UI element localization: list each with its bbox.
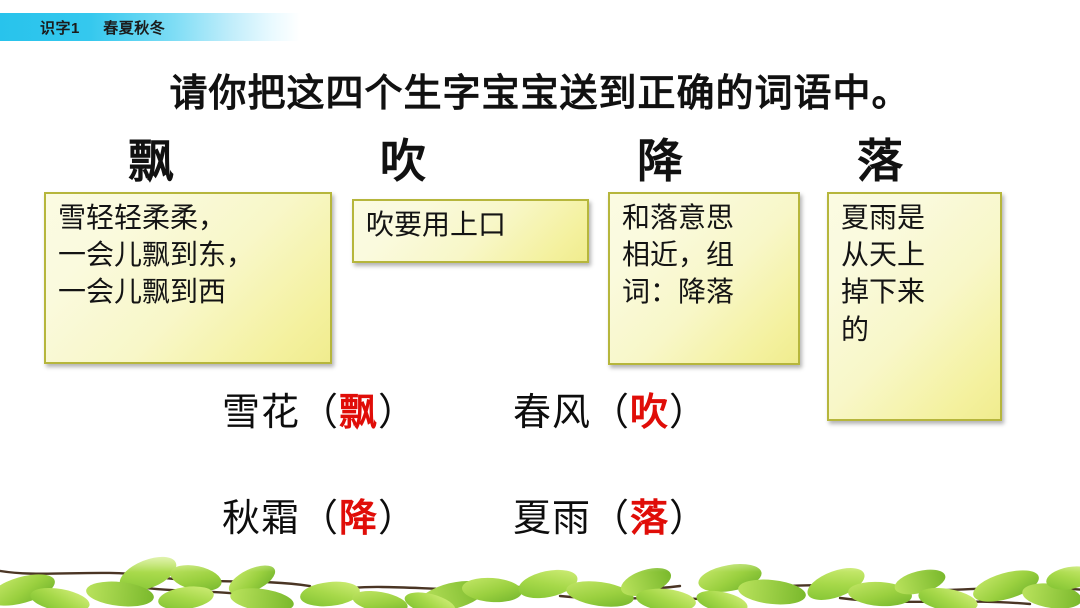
big-char-piao[interactable]: 飘: [128, 138, 174, 184]
answer-word: 雪花（: [222, 392, 339, 434]
leaf-border-icon: [0, 538, 1080, 608]
answer-close: ）: [669, 392, 708, 434]
answer-close: ）: [669, 498, 708, 540]
hint-card-luo: 夏雨是 从天上 掉下来 的: [827, 192, 1002, 421]
answer-qiushuang: 秋霜（降）: [222, 487, 417, 542]
hint-card-piao: 雪轻轻柔柔， 一会儿飘到东， 一会儿飘到西: [44, 192, 332, 364]
hint-line: 一会儿飘到西: [58, 274, 320, 311]
answer-close: ）: [378, 392, 417, 434]
answer-key[interactable]: 飘: [339, 392, 378, 434]
answer-word: 秋霜（: [222, 498, 339, 540]
hint-line: 吹要用上口: [366, 207, 577, 244]
answer-chunfeng: 春风（吹）: [513, 381, 708, 436]
hint-line: 和落意思: [622, 200, 788, 237]
answer-key[interactable]: 吹: [630, 392, 669, 434]
big-char-chui[interactable]: 吹: [380, 138, 426, 184]
answer-key[interactable]: 降: [339, 498, 378, 540]
hint-line: 从天上: [841, 237, 990, 274]
hint-line: 的: [841, 312, 990, 349]
leaf-border-decoration: [0, 538, 1080, 608]
answer-word: 春风（: [513, 392, 630, 434]
hint-card-jiang: 和落意思 相近，组 词：降落: [608, 192, 800, 365]
big-char-luo[interactable]: 落: [857, 138, 903, 184]
answer-key[interactable]: 落: [630, 498, 669, 540]
lesson-banner: 识字1 春夏秋冬: [0, 13, 300, 41]
hint-line: 掉下来: [841, 274, 990, 311]
hint-line: 相近，组: [622, 237, 788, 274]
hint-line: 雪轻轻柔柔，: [58, 200, 320, 237]
answer-word: 夏雨（: [513, 498, 630, 540]
hint-line: 词：降落: [622, 274, 788, 311]
hint-line: 夏雨是: [841, 200, 990, 237]
hint-card-chui: 吹要用上口: [352, 199, 589, 263]
lesson-title: 春夏秋冬: [103, 20, 165, 37]
lesson-code: 识字1: [40, 20, 80, 37]
big-char-jiang[interactable]: 降: [637, 138, 683, 184]
hint-line: 一会儿飘到东，: [58, 237, 320, 274]
answer-xiayu: 夏雨（落）: [513, 487, 708, 542]
page-title: 请你把这四个生字宝宝送到正确的词语中。: [0, 62, 1080, 117]
lesson-banner-label: 识字1 春夏秋冬: [40, 17, 165, 38]
answer-close: ）: [378, 498, 417, 540]
answer-xuehua: 雪花（飘）: [222, 381, 417, 436]
